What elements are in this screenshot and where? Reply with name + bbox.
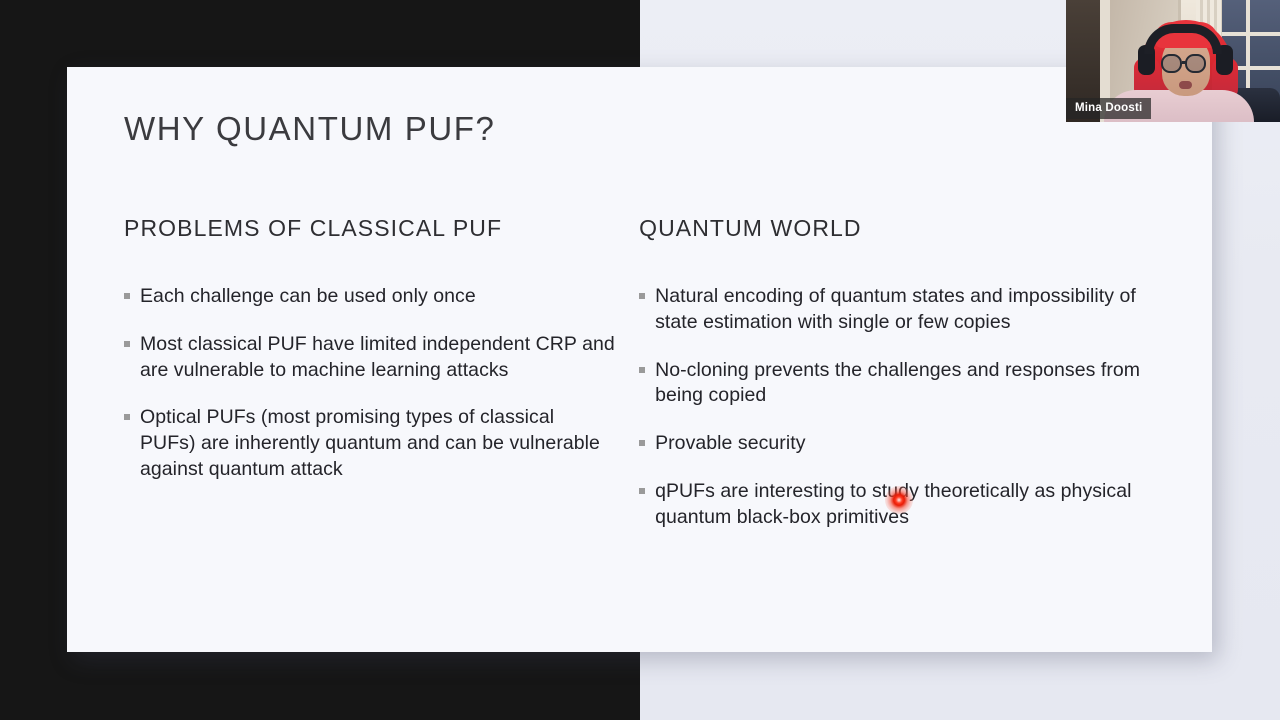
list-item: Most classical PUF have limited independ… [124,332,615,383]
list-item: Provable security [639,431,1156,457]
slide-content: WHY QUANTUM PUF? PROBLEMS OF CLASSICAL P… [67,67,1212,652]
list-item: Each challenge can be used only once [124,284,615,310]
screen: WHY QUANTUM PUF? PROBLEMS OF CLASSICAL P… [0,0,1280,720]
column-heading-right: QUANTUM WORLD [639,215,1156,243]
bullet-list-left: Each challenge can be used only once Mos… [124,284,615,482]
bullet-text: No-cloning prevents the challenges and r… [655,359,1140,407]
slide-columns: PROBLEMS OF CLASSICAL PUF Each challenge… [124,215,1156,531]
bullet-square-icon [124,414,130,420]
list-item: Natural encoding of quantum states and i… [639,284,1156,335]
slide-title: WHY QUANTUM PUF? [124,109,1156,149]
column-quantum-world: QUANTUM WORLD Natural encoding of quantu… [639,215,1156,531]
bullet-square-icon [124,293,130,299]
bullet-text: Provable security [655,432,805,454]
list-item: No-cloning prevents the challenges and r… [639,358,1156,409]
bullet-square-icon [639,440,645,446]
bullet-square-icon [124,341,130,347]
glasses-lens-icon [1185,54,1206,73]
glasses-bridge-icon [1182,61,1187,64]
bullet-text: Optical PUFs (most promising types of cl… [140,406,600,479]
bullet-text: Natural encoding of quantum states and i… [655,285,1136,333]
column-heading-left: PROBLEMS OF CLASSICAL PUF [124,215,615,243]
window-mullion [1218,32,1280,36]
presentation-slide[interactable]: WHY QUANTUM PUF? PROBLEMS OF CLASSICAL P… [67,67,1212,652]
bullet-square-icon [639,488,645,494]
webcam-thumbnail[interactable]: Mina Doosti [1066,0,1280,122]
bullet-text: Each challenge can be used only once [140,285,476,307]
bullet-text: Most classical PUF have limited independ… [140,333,615,381]
column-problems-of-classical-puf: PROBLEMS OF CLASSICAL PUF Each challenge… [124,215,639,531]
bullet-square-icon [639,367,645,373]
laser-pointer-icon [885,486,913,514]
person-mouth [1179,81,1192,89]
glasses-lens-icon [1161,54,1182,73]
bullet-square-icon [639,293,645,299]
list-item: Optical PUFs (most promising types of cl… [124,405,615,482]
webcam-participant-name: Mina Doosti [1066,98,1151,119]
